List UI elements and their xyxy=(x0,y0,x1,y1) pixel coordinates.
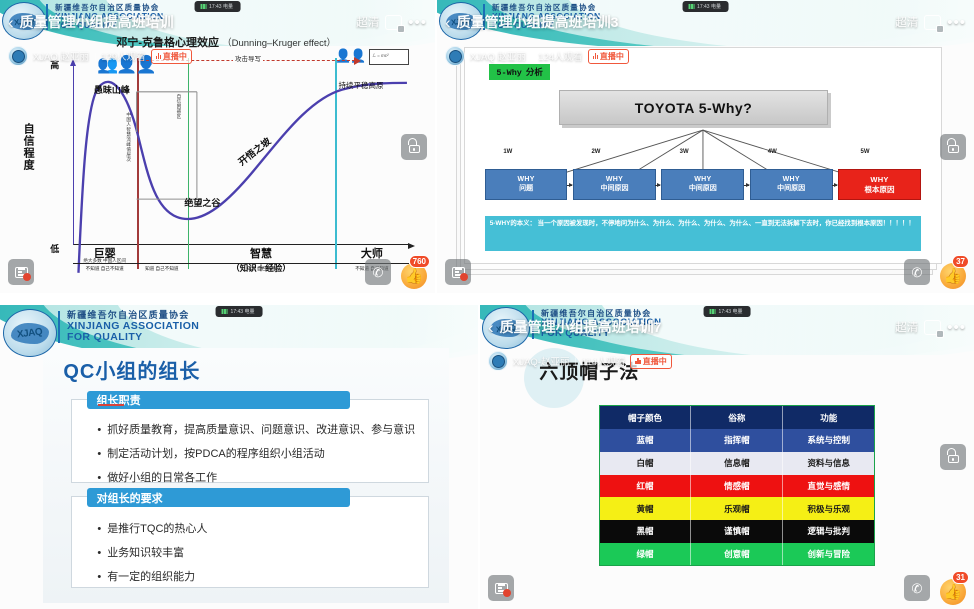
like-count-badge: 760 xyxy=(409,255,430,268)
comments-toggle-icon[interactable] xyxy=(445,259,471,285)
phone-status-bar: 17:43 电量 xyxy=(216,306,263,317)
five-why-diagram: 5-Why分析 TOYOTA 5-Why? xyxy=(464,47,942,264)
x-axis-arrow-icon xyxy=(408,243,415,249)
assoc-name-en2: FOR QUALITY xyxy=(67,332,199,343)
w-label-1: 2W xyxy=(591,149,600,155)
cell-nickname: 信息帽 xyxy=(691,452,783,475)
slide-qc-leader: XJAQ 新疆维吾尔自治区质量协会 XINJIANG ASSOCIATION F… xyxy=(0,305,478,609)
live-badge-label: 直播中 xyxy=(163,51,187,62)
valley-label: 绝望之谷 xyxy=(184,196,220,209)
back-icon[interactable]: ‹ xyxy=(8,14,14,31)
like-button[interactable]: 👍 760 xyxy=(399,257,429,289)
x-know-1: 知道 自己不知道 xyxy=(137,264,187,272)
like-button[interactable]: 👍 31 xyxy=(938,573,968,605)
six-hats-table: 帽子颜色 俗称 功能 蓝帽 指挥帽 系统与控制 白帽 信息帽 资料与信息 红帽 … xyxy=(599,405,876,566)
gutter-vertical-bottom xyxy=(478,305,480,609)
qc-duties-list: 抓好质量教育，提高质量意识、问题意识、改进意识、参与意识 制定活动计划，按PDC… xyxy=(97,421,413,493)
five-why-note: 5-WHY的本义： 当一个原因被发现时，不停地问为什么、为什么、为什么、为什么、… xyxy=(485,216,921,250)
x-know-0: 不知道 自己不知道 xyxy=(73,264,137,272)
screen-unlock-icon[interactable] xyxy=(940,134,966,160)
phone-status-bar: 17:43 电量 xyxy=(704,306,751,317)
w-label-0: 1W xyxy=(503,149,512,155)
watcher-count: 124人观看 xyxy=(538,49,582,63)
table-row: 黄帽 乐观帽 积极与乐观 xyxy=(600,497,875,520)
avatar[interactable] xyxy=(8,46,28,66)
streamer-info-row: XJAQ 赵亚丽 | 129人观看 直播中 xyxy=(8,46,192,66)
more-options-icon[interactable]: ••• xyxy=(947,15,966,30)
y-tick-low: 低 xyxy=(50,242,59,255)
screen-unlock-icon[interactable] xyxy=(401,134,427,160)
quality-selector[interactable]: 超清 xyxy=(895,14,918,30)
live-status-badge: 直播中 xyxy=(630,354,671,369)
plateau-label: 持续平稳高原 xyxy=(339,80,384,91)
live-room-title: 质量管理小组提高班培训3 xyxy=(457,12,619,32)
streamer-info-row: XJAQ-赵亚丽 | 114人观看 直播中 xyxy=(488,351,672,371)
live-panel-qc-leader[interactable]: XJAQ 新疆维吾尔自治区质量协会 XINJIANG ASSOCIATION F… xyxy=(0,305,478,609)
screen-unlock-icon[interactable] xyxy=(940,444,966,470)
list-item: 制定活动计划，按PDCA的程序组织小组活动 xyxy=(97,445,413,461)
cell-function: 直觉与感情 xyxy=(783,475,874,498)
th-color: 帽子颜色 xyxy=(600,406,692,429)
info-separator: | xyxy=(94,51,96,61)
toyota-header: TOYOTA 5-Why? xyxy=(559,90,828,124)
watcher-count: 129人观看 xyxy=(101,49,145,63)
list-item: 有一定的组织能力 xyxy=(97,568,413,584)
cell-color: 绿帽 xyxy=(600,543,692,566)
cell-color: 白帽 xyxy=(600,452,692,475)
association-logo-icon: XJAQ xyxy=(3,309,57,357)
like-count-badge: 37 xyxy=(952,255,969,268)
assoc-name-en1: XINJIANG ASSOCIATION xyxy=(67,321,199,332)
why-box-3: WHY 中间原因 xyxy=(661,169,744,199)
phone-status-bar: 17:43 电量 xyxy=(682,1,729,12)
x-axis-knowledge-row: 不知道 自己不知道 知道 自己不知道 知道 自己知道 不知道 自己知道 xyxy=(73,263,409,272)
chart-plot-area: 高 低 自信程度 中国人智慧流峰值层次 自信困惑区 👥👤👤 愚昧山峰 绝望之谷 xyxy=(73,65,409,245)
qc-block-duties: 组长职责 抓好质量教育，提高质量意识、问题意识、改进意识、参与意识 制定活动计划… xyxy=(71,399,429,483)
cell-nickname: 指挥帽 xyxy=(691,429,783,452)
like-button[interactable]: 👍 37 xyxy=(938,257,968,289)
like-count-badge: 31 xyxy=(952,571,969,584)
y-axis-label: 自信程度 xyxy=(20,123,36,171)
why-boxes-row: WHY 问题 WHY 中间原因 WHY 中间原因 WHY 中间原因 WH xyxy=(485,169,921,199)
back-icon[interactable]: ‹ xyxy=(445,14,451,31)
slide-title: QC小组的组长 xyxy=(63,355,200,384)
live-panel-5why[interactable]: XJAQ 新疆维吾尔自治区质量协会 XINJIANG ASSOCIATION F… xyxy=(437,0,974,293)
live-room-title: 质量管理小组提高班培训7 xyxy=(500,317,662,337)
why-box-4: WHY 中间原因 xyxy=(750,169,833,199)
streamer-info-row: XJAQ 赵亚丽 | 124人观看 直播中 xyxy=(445,46,629,66)
live-panel-six-hats[interactable]: XJAQ 新疆维吾尔自治区质量协会 XINJIANG ASSOCIATION F… xyxy=(480,305,974,609)
live-badge-label: 直播中 xyxy=(600,51,624,62)
qc-requirements-list: 是推行TQC的热心人 业务知识较丰富 有一定的组织能力 xyxy=(97,520,413,592)
whiteboard-icon: ℒ = mc² xyxy=(369,49,409,65)
qc-block-requirements-header: 对组长的要求 xyxy=(87,488,350,508)
list-item: 做好小组的日常各工作 xyxy=(97,469,413,485)
avatar[interactable] xyxy=(445,46,465,66)
table-row: 绿帽 创意帽 创新与冒险 xyxy=(600,543,875,566)
table-row: 黑帽 谨慎帽 逻辑与批判 xyxy=(600,520,875,543)
more-options-icon[interactable]: ••• xyxy=(947,320,966,335)
live-badge-label: 直播中 xyxy=(643,356,667,367)
cell-nickname: 谨慎帽 xyxy=(691,520,783,543)
th-function: 功能 xyxy=(783,406,874,429)
why-box-1: WHY 问题 xyxy=(485,169,568,199)
cell-function: 系统与控制 xyxy=(783,429,874,452)
picture-in-picture-icon[interactable] xyxy=(924,15,941,30)
qc-block-requirements: 对组长的要求 是推行TQC的热心人 业务知识较丰富 有一定的组织能力 xyxy=(71,496,429,588)
picture-in-picture-icon[interactable] xyxy=(385,15,402,30)
qc-leader-card: QC小组的组长 组长职责 抓好质量教育，提高质量意识、问题意识、改进意识、参与意… xyxy=(43,348,449,603)
association-wordmark: 新疆维吾尔自治区质量协会 XINJIANG ASSOCIATION FOR QU… xyxy=(58,311,199,343)
cell-nickname: 乐观帽 xyxy=(691,497,783,520)
table-header-row: 帽子颜色 俗称 功能 xyxy=(600,406,875,429)
qc-block-duties-header: 组长职责 xyxy=(87,391,350,409)
comments-toggle-icon[interactable] xyxy=(8,259,34,285)
w-label-4: 5W xyxy=(861,149,870,155)
comments-toggle-icon[interactable] xyxy=(488,575,514,601)
table-row: 白帽 信息帽 资料与信息 xyxy=(600,452,875,475)
call-icon[interactable]: ✆ xyxy=(904,575,930,601)
live-status-badge: 直播中 xyxy=(588,49,629,64)
phone-status-bar: 17:43 电量 xyxy=(194,1,241,12)
cell-nickname: 创意帽 xyxy=(691,543,783,566)
list-item: 业务知识较丰富 xyxy=(97,544,413,560)
live-room-title: 质量管理小组提高班培训 xyxy=(20,12,174,32)
gutter-horizontal xyxy=(0,293,974,305)
live-status-badge: 直播中 xyxy=(151,49,192,64)
cell-function: 创新与冒险 xyxy=(783,543,874,566)
why-box-5-root: WHY 根本原因 xyxy=(838,169,921,199)
streamer-name: XJAQ 赵亚丽 xyxy=(470,49,526,63)
progress-arrow-label: 攻击导写 xyxy=(233,53,263,63)
cell-color: 黑帽 xyxy=(600,520,692,543)
live-panel-dunning-kruger[interactable]: XJAQ 新疆维吾尔自治区质量协会 XINJIANG ASSOCIATION F… xyxy=(0,0,435,293)
streamer-name: XJAQ 赵亚丽 xyxy=(33,49,89,63)
cell-color: 红帽 xyxy=(600,475,692,498)
info-separator: | xyxy=(531,51,533,61)
x-know-2: 知道 自己知道 xyxy=(187,264,335,272)
more-options-icon[interactable]: ••• xyxy=(408,15,427,30)
screenshot-grid: XJAQ 新疆维吾尔自治区质量协会 XINJIANG ASSOCIATION F… xyxy=(0,0,974,609)
back-icon[interactable]: ‹ xyxy=(488,319,494,336)
five-why-tag: 5-Why分析 xyxy=(489,64,550,80)
cell-color: 黄帽 xyxy=(600,497,692,520)
peak-label: 愚昧山峰 xyxy=(94,83,130,96)
x-axis-band: 巨婴 智慧 （知识＋经验） 大师 绝大多数 中国人区间 不知道 自己不知道 知道… xyxy=(73,245,409,284)
quality-selector[interactable]: 超清 xyxy=(356,14,379,30)
cell-function: 资料与信息 xyxy=(783,452,874,475)
cell-color: 蓝帽 xyxy=(600,429,692,452)
call-icon[interactable]: ✆ xyxy=(904,259,930,285)
cell-nickname: 情感帽 xyxy=(691,475,783,498)
picture-in-picture-icon[interactable] xyxy=(924,320,941,335)
info-separator: | xyxy=(574,356,576,366)
table-row: 蓝帽 指挥帽 系统与控制 xyxy=(600,429,875,452)
list-item: 是推行TQC的热心人 xyxy=(97,520,413,536)
table-row: 红帽 情感帽 直觉与感情 xyxy=(600,475,875,498)
th-nickname: 俗称 xyxy=(691,406,783,429)
list-item: 抓好质量教育，提高质量意识、问题意识、改进意识、参与意识 xyxy=(97,421,413,437)
watcher-count: 114人观看 xyxy=(582,354,626,368)
streamer-name: XJAQ-赵亚丽 xyxy=(513,354,569,368)
avatar[interactable] xyxy=(488,351,508,371)
gutter-vertical-top xyxy=(435,0,437,295)
cell-function: 积极与乐观 xyxy=(783,497,874,520)
dunning-kruger-chart: 邓宁-克鲁格心理效应 （Dunning–Kruger effect） 高 低 自… xyxy=(44,41,409,284)
cell-function: 逻辑与批判 xyxy=(783,520,874,543)
w-label-3: 4W xyxy=(768,149,777,155)
why-box-2: WHY 中间原因 xyxy=(573,169,656,199)
quality-selector[interactable]: 超清 xyxy=(895,319,918,335)
w-label-2: 3W xyxy=(680,149,689,155)
call-icon[interactable]: ✆ xyxy=(365,259,391,285)
